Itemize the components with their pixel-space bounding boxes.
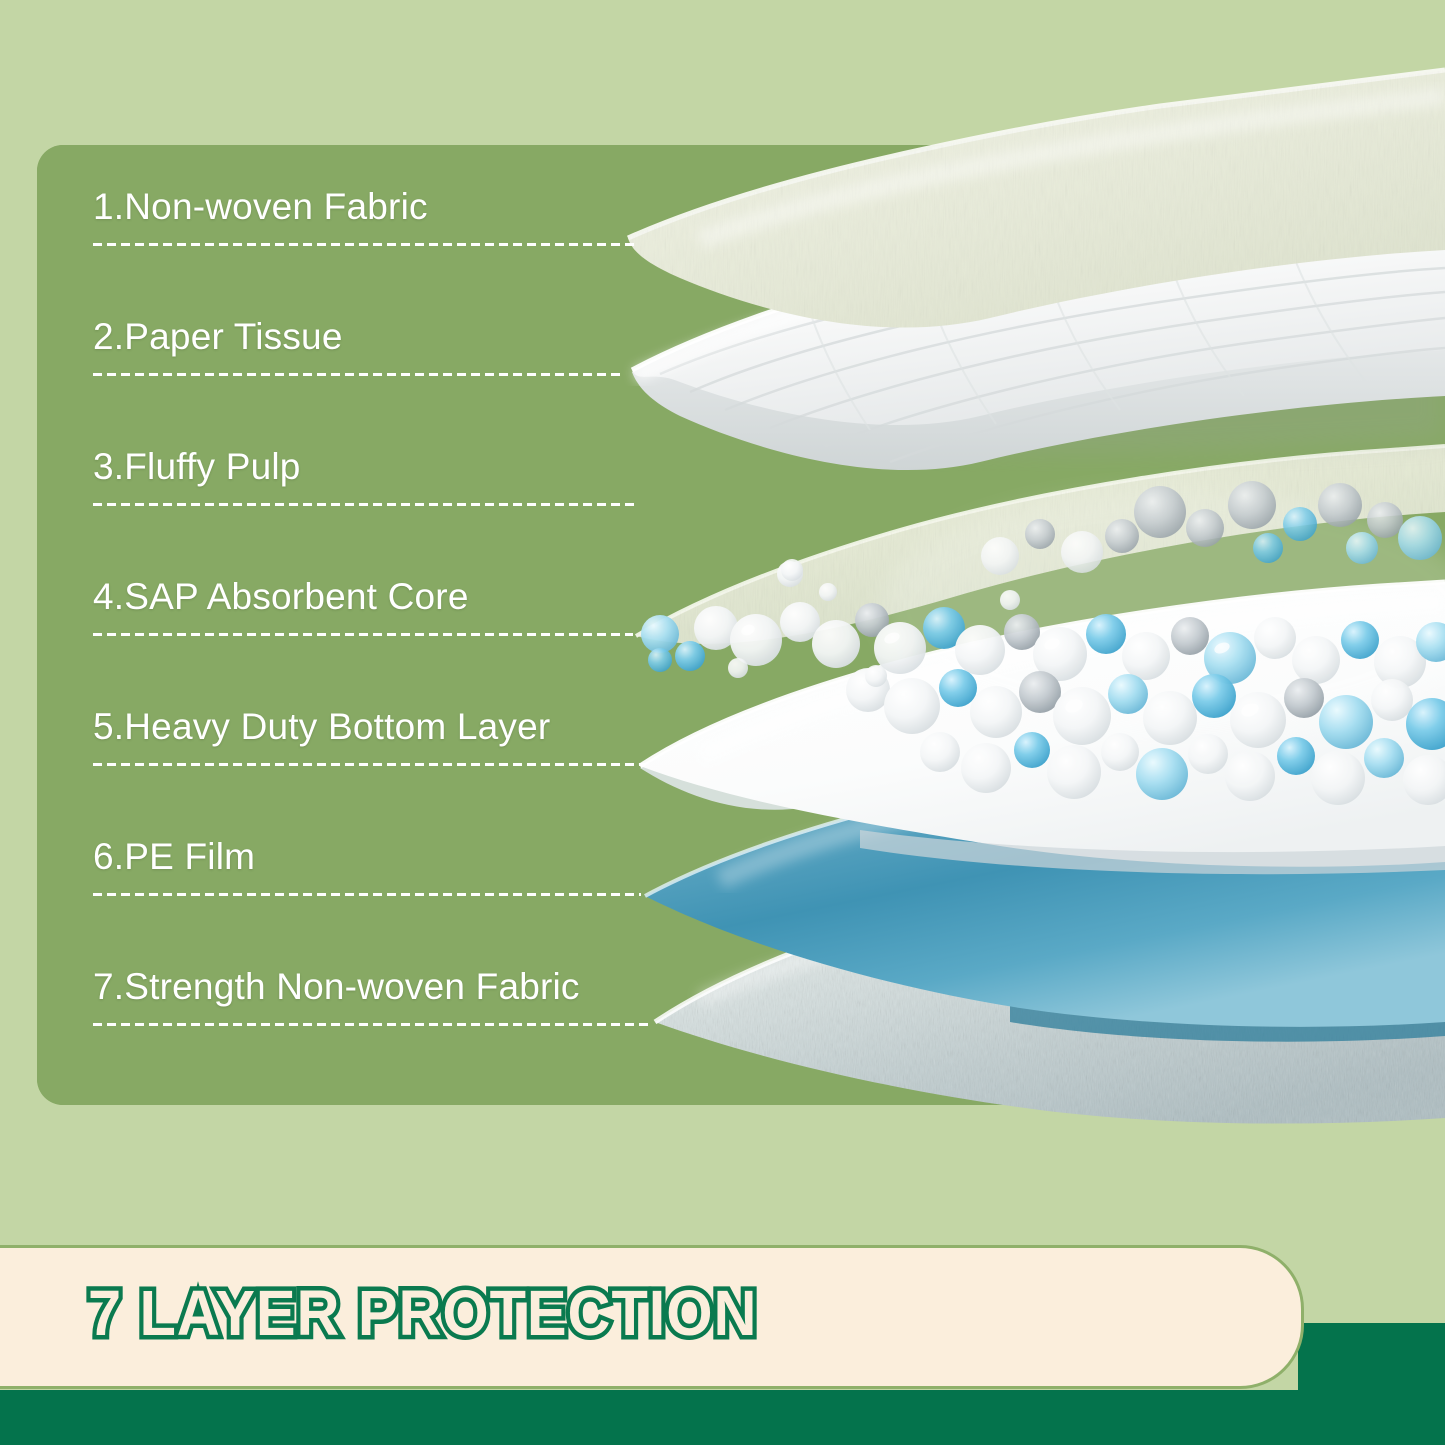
- layer-label-row-7: 7.Strength Non-woven Fabric: [93, 966, 653, 1096]
- layer-label-1: 1.Non-woven Fabric: [93, 186, 428, 228]
- infographic-canvas: 1.Non-woven Fabric 2.Paper Tissue 3.Fluf…: [0, 0, 1445, 1445]
- layer-label-5: 5.Heavy Duty Bottom Layer: [93, 706, 550, 748]
- layer-leader-line-5: [93, 763, 645, 766]
- layer-label-6: 6.PE Film: [93, 836, 255, 878]
- layer-label-row-1: 1.Non-woven Fabric: [93, 186, 653, 316]
- layer-label-2: 2.Paper Tissue: [93, 316, 343, 358]
- layer-leader-line-4: [93, 633, 633, 636]
- layer-label-7: 7.Strength Non-woven Fabric: [93, 966, 580, 1008]
- layer-label-3: 3.Fluffy Pulp: [93, 446, 301, 488]
- layer-label-row-3: 3.Fluffy Pulp: [93, 446, 653, 576]
- layer-leader-line-3: [93, 503, 638, 506]
- layer-label-row-5: 5.Heavy Duty Bottom Layer: [93, 706, 653, 836]
- layer-leader-line-2: [93, 373, 623, 376]
- layer-leader-line-7: [93, 1023, 649, 1026]
- dark-green-bottom-band: [0, 1390, 1445, 1445]
- layer-label-4: 4.SAP Absorbent Core: [93, 576, 469, 618]
- layer-label-list: 1.Non-woven Fabric 2.Paper Tissue 3.Fluf…: [93, 186, 653, 1096]
- banner-title: 7 LAYER PROTECTION: [88, 1276, 757, 1350]
- layer-label-row-6: 6.PE Film: [93, 836, 653, 966]
- layer-label-row-2: 2.Paper Tissue: [93, 316, 653, 446]
- layer-leader-line-6: [93, 893, 641, 896]
- layer-label-row-4: 4.SAP Absorbent Core: [93, 576, 653, 706]
- layer-leader-line-1: [93, 243, 638, 246]
